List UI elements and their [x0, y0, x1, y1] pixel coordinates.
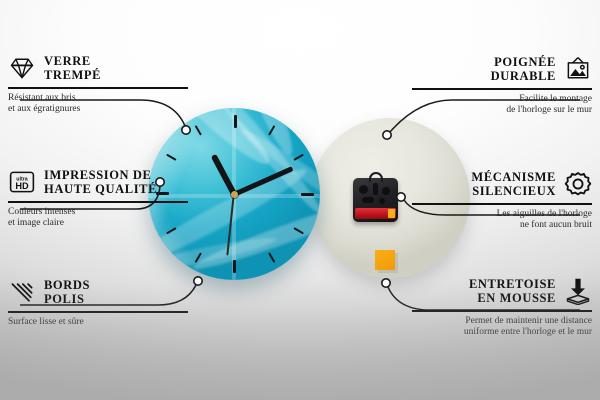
- infographic-canvas: VERRE TREMPÉ Résistant aux bris et aux é…: [0, 0, 600, 400]
- clock-mechanism: [353, 178, 398, 222]
- mechanism-detail: [382, 187, 390, 195]
- feature-poignee-durable: POIGNÉE DURABLE Facilite le montage de l…: [412, 55, 592, 117]
- feature-verre-trempe: VERRE TREMPÉ Résistant aux bris et aux é…: [8, 54, 188, 116]
- feature-title: ENTRETOISE EN MOUSSE: [469, 277, 556, 305]
- feature-title: POIGNÉE DURABLE: [491, 55, 556, 83]
- feature-title: MÉCANISME SILENCIEUX: [471, 170, 556, 198]
- mechanism-detail: [379, 198, 385, 204]
- feature-header: MÉCANISME SILENCIEUX: [412, 170, 592, 198]
- clock-tick: [234, 108, 236, 194]
- feature-impression-qualite: ultra HD IMPRESSION DE HAUTE QUALITÉ Cou…: [8, 168, 188, 230]
- clock-tick: [234, 194, 236, 280]
- divider: [412, 203, 592, 205]
- feature-header: ENTRETOISE EN MOUSSE: [412, 277, 592, 305]
- wall-mount-frame-icon: [564, 55, 592, 83]
- feature-header: POIGNÉE DURABLE: [412, 55, 592, 83]
- clock-center-pin: [231, 191, 238, 198]
- foam-spacer-arrow-icon: [564, 277, 592, 305]
- feature-title: IMPRESSION DE HAUTE QUALITÉ: [44, 168, 157, 196]
- svg-text:HD: HD: [15, 181, 29, 191]
- gear-icon: [564, 170, 592, 198]
- clock-battery: [355, 208, 396, 219]
- feature-header: VERRE TREMPÉ: [8, 54, 188, 82]
- mechanism-detail: [373, 183, 378, 195]
- feature-bords-polis: BORDS POLIS Surface lisse et sûre: [8, 278, 188, 328]
- feature-title: BORDS POLIS: [44, 278, 90, 306]
- diamond-icon: [8, 54, 36, 82]
- feature-entretoise-mousse: ENTRETOISE EN MOUSSE Permet de maintenir…: [412, 277, 592, 339]
- mechanism-hanger-icon: [369, 172, 383, 182]
- divider: [8, 201, 188, 203]
- foam-spacer: [375, 250, 395, 270]
- divider: [8, 87, 188, 89]
- polished-edges-icon: [8, 278, 36, 306]
- mechanism-detail: [359, 185, 368, 194]
- ultra-hd-icon: ultra HD: [8, 168, 36, 196]
- feature-mecanisme-silencieux: MÉCANISME SILENCIEUX Les aiguilles de l'…: [412, 170, 592, 232]
- feature-title: VERRE TREMPÉ: [44, 54, 101, 82]
- divider: [8, 311, 188, 313]
- clock-tick: [235, 193, 320, 195]
- mechanism-detail: [362, 197, 374, 203]
- divider: [412, 310, 592, 312]
- feature-header: BORDS POLIS: [8, 278, 188, 306]
- divider: [412, 88, 592, 90]
- feature-header: ultra HD IMPRESSION DE HAUTE QUALITÉ: [8, 168, 188, 196]
